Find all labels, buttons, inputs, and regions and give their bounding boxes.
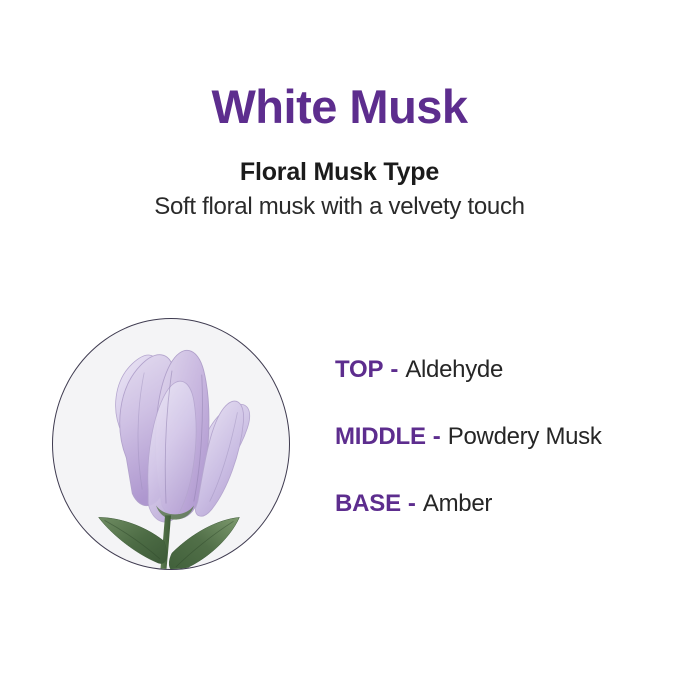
product-image-circle bbox=[52, 318, 290, 570]
tulip-flower-icon bbox=[53, 319, 289, 569]
scent-type-label: Floral Musk Type bbox=[0, 158, 679, 187]
fragrance-notes-list: TOP - Aldehyde MIDDLE - Powdery Musk BAS… bbox=[335, 357, 665, 558]
note-value-top: Aldehyde bbox=[405, 357, 503, 383]
note-row-base: BASE - Amber bbox=[335, 491, 665, 558]
header-block: White Musk Floral Musk Type Soft floral … bbox=[0, 82, 679, 221]
note-value-base: Amber bbox=[423, 491, 492, 517]
note-label-base: BASE bbox=[335, 491, 401, 517]
note-label-top: TOP bbox=[335, 357, 383, 383]
fragrance-product-card: White Musk Floral Musk Type Soft floral … bbox=[0, 0, 679, 679]
note-separator: - bbox=[433, 424, 441, 450]
page-title: White Musk bbox=[0, 82, 679, 133]
leaf-right-upper bbox=[169, 517, 239, 569]
leaf-left-upper bbox=[99, 517, 167, 563]
note-label-middle: MIDDLE bbox=[335, 424, 426, 450]
note-row-middle: MIDDLE - Powdery Musk bbox=[335, 424, 665, 491]
note-separator: - bbox=[390, 357, 398, 383]
note-separator: - bbox=[408, 491, 416, 517]
note-row-top: TOP - Aldehyde bbox=[335, 357, 665, 424]
note-value-middle: Powdery Musk bbox=[448, 424, 602, 450]
scent-description: Soft floral musk with a velvety touch bbox=[0, 193, 679, 222]
